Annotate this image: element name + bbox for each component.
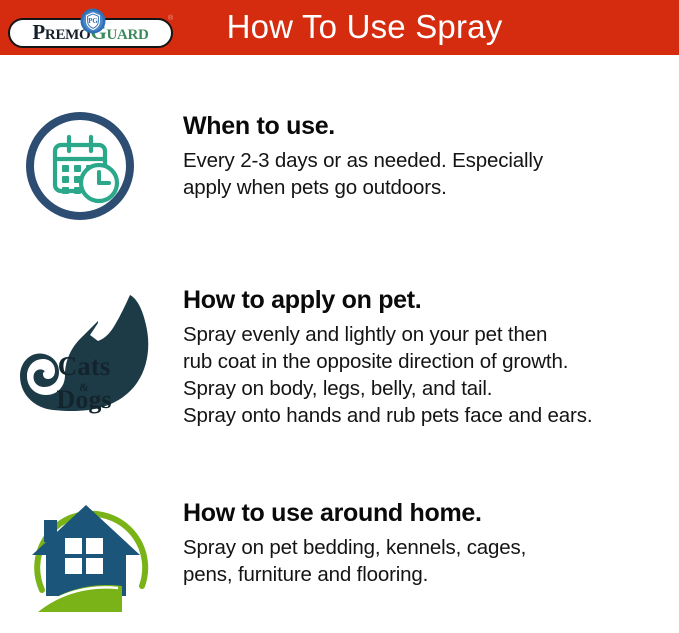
body-line: Spray on pet bedding, kennels, cages,: [183, 534, 673, 561]
shield-badge-icon: PG: [80, 8, 106, 34]
body-line: Spray onto hands and rub pets face and e…: [183, 402, 673, 429]
brand-logo: PremoGuard PG ®: [8, 10, 173, 48]
icon-label-dogs: Dogs: [57, 385, 112, 414]
body-line: Spray evenly and lightly on your pet the…: [183, 321, 673, 348]
body-line: Spray on body, legs, belly, and tail.: [183, 375, 673, 402]
section-when-body: Every 2-3 days or as needed. Especially …: [183, 147, 673, 201]
calendar-clock-icon: [14, 107, 146, 238]
registered-mark: ®: [168, 15, 173, 22]
section-apply-heading: How to apply on pet.: [183, 285, 673, 315]
house-icon: [18, 478, 168, 633]
header-bar: How To Use Spray PremoGuard PG ®: [0, 0, 679, 55]
section-when-heading: When to use.: [183, 111, 673, 141]
section-around-home-text: How to use around home. Spray on pet bed…: [183, 498, 673, 588]
section-apply-body: Spray evenly and lightly on your pet the…: [183, 321, 673, 429]
body-line: apply when pets go outdoors.: [183, 174, 673, 201]
body-line: rub coat in the opposite direction of gr…: [183, 348, 673, 375]
body-line: Every 2-3 days or as needed. Especially: [183, 147, 673, 174]
section-home-body: Spray on pet bedding, kennels, cages, pe…: [183, 534, 673, 588]
section-when-to-use-text: When to use. Every 2-3 days or as needed…: [183, 111, 673, 201]
cats-and-dogs-icon: Cats & Dogs: [12, 283, 162, 433]
body-line: pens, furniture and flooring.: [183, 561, 673, 588]
shield-initials: PG: [88, 17, 98, 25]
section-how-to-apply-text: How to apply on pet. Spray evenly and li…: [183, 285, 673, 429]
section-home-heading: How to use around home.: [183, 498, 673, 528]
icon-label-cats: Cats: [58, 351, 111, 381]
